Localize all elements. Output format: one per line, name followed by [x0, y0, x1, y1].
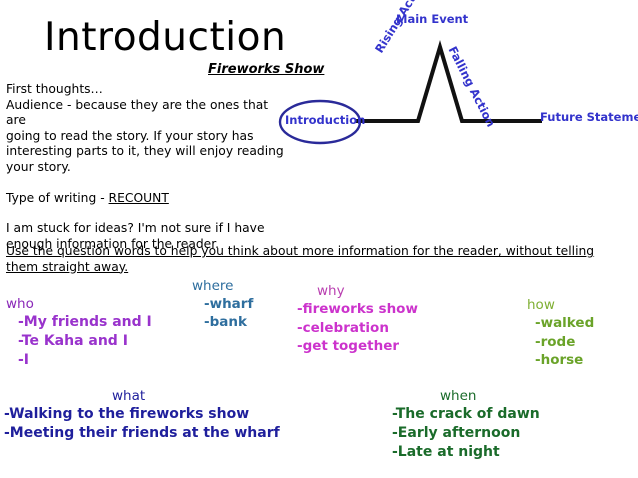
list-item: -bank [204, 313, 253, 331]
question-list-where: -wharf -bank [192, 295, 253, 331]
question-list-when: -The crack of dawn -Early afternoon -Lat… [392, 405, 540, 462]
instruction-text: Use the question words to help you think… [6, 244, 626, 275]
list-item: -Early afternoon [392, 424, 540, 443]
type-of-writing-value: RECOUNT [109, 191, 169, 205]
body-line-audience-2: going to read the story. If your story h… [6, 129, 288, 145]
list-item: -The crack of dawn [392, 405, 540, 424]
body-text-block: First thoughts… Audience - because they … [6, 82, 288, 252]
list-item: -wharf [204, 295, 253, 313]
question-heading-how: how [527, 297, 594, 314]
list-item: -walked [535, 314, 594, 333]
question-group-why: why -fireworks show -celebration -get to… [297, 283, 418, 356]
question-heading-where: where [192, 278, 253, 295]
question-heading-when: when [392, 388, 540, 405]
question-list-why: -fireworks show -celebration -get togeth… [297, 300, 418, 356]
question-heading-what: what [4, 388, 280, 405]
page-title: Introduction [44, 16, 286, 60]
list-item: -fireworks show [297, 300, 418, 319]
question-group-when: when -The crack of dawn -Early afternoon… [392, 388, 540, 462]
question-list-what: -Walking to the fireworks show -Meeting … [4, 405, 280, 443]
question-heading-why: why [297, 283, 418, 300]
diagram-label-main-event: Main Event [396, 12, 468, 26]
list-item: -horse [535, 351, 594, 370]
question-heading-who: who [6, 296, 152, 313]
body-line-audience-1: Audience - because they are the ones tha… [6, 98, 288, 129]
list-item: -rode [535, 333, 594, 352]
question-list-how: -walked -rode -horse [527, 314, 594, 370]
body-line-audience-4: your story. [6, 160, 288, 176]
body-line-stuck-1: I am stuck for ideas? I'm not sure if I … [6, 221, 288, 237]
question-group-what: what -Walking to the fireworks show -Mee… [4, 388, 280, 443]
list-item: -get together [297, 337, 418, 356]
slide-canvas: Introduction Fireworks Show First though… [0, 0, 638, 478]
story-arc-diagram: Introduction Rising Action Main Event Fa… [270, 0, 638, 150]
body-spacer-2 [6, 206, 288, 221]
list-item: -celebration [297, 319, 418, 338]
list-item: -My friends and I [18, 313, 152, 332]
type-of-writing-label: Type of writing - [6, 191, 109, 205]
question-group-who: who -My friends and I -Te Kaha and I -I [6, 296, 152, 370]
body-line-audience-3: interesting parts to it, they will enjoy… [6, 144, 288, 160]
body-spacer-1 [6, 176, 288, 191]
list-item: -Walking to the fireworks show [4, 405, 280, 424]
list-item: -Te Kaha and I [18, 332, 152, 351]
question-group-where: where -wharf -bank [192, 278, 253, 331]
diagram-label-introduction: Introduction [285, 113, 365, 127]
body-line-first-thoughts: First thoughts… [6, 82, 288, 98]
list-item: -Meeting their friends at the wharf [4, 424, 280, 443]
diagram-label-future-statement: Future Statement [540, 110, 638, 124]
list-item: -I [18, 351, 152, 370]
question-list-who: -My friends and I -Te Kaha and I -I [6, 313, 152, 370]
question-group-how: how -walked -rode -horse [527, 297, 594, 370]
list-item: -Late at night [392, 443, 540, 462]
body-line-type-of-writing: Type of writing - RECOUNT [6, 191, 288, 207]
